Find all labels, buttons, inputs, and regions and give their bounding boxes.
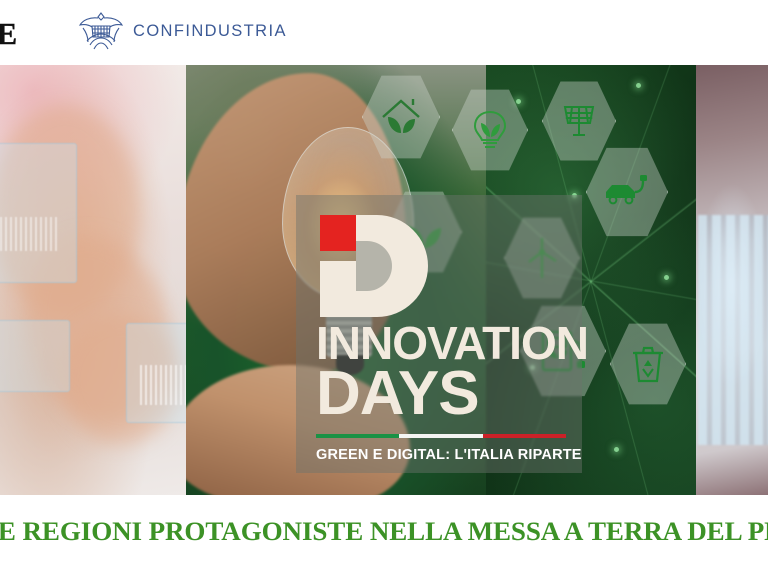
innovation-days-logo[interactable]: INNOVATION DAYS GREEN E DIGITAL: L'ITALI… [296, 195, 582, 473]
banner-photo-left [0, 65, 186, 495]
network-node [516, 99, 521, 104]
city-glow [696, 185, 768, 385]
logo-title-line2: DAYS [316, 365, 562, 424]
logo-i-stem [320, 261, 356, 317]
event-banner[interactable]: INNOVATION DAYS GREEN E DIGITAL: L'ITALI… [0, 65, 768, 495]
hud-bar-graph [140, 365, 186, 405]
innovation-days-id-mark [320, 213, 430, 317]
partner-logo[interactable]: CONFINDUSTRIA [78, 10, 287, 52]
article-headline[interactable]: LE REGIONI PROTAGONISTE NELLA MESSA A TE… [0, 517, 768, 546]
publisher-logo[interactable]: ORE [0, 18, 18, 49]
flag-red-stripe [483, 434, 566, 438]
logo-d-letter [356, 215, 428, 317]
network-node [636, 83, 641, 88]
partner-name-label: CONFINDUSTRIA [133, 22, 287, 41]
network-node [664, 275, 669, 280]
logo-red-square [320, 215, 356, 251]
network-node [614, 447, 619, 452]
italian-tricolour-bar [316, 434, 566, 438]
hud-overlay-panel [0, 320, 70, 392]
hud-overlay-panel [0, 143, 77, 283]
banner-photo-right [696, 65, 768, 495]
hud-bar-graph [0, 217, 60, 251]
flag-green-stripe [316, 434, 399, 438]
flag-white-stripe [399, 434, 482, 438]
article-headline-area: LE REGIONI PROTAGONISTE NELLA MESSA A TE… [0, 495, 768, 576]
confindustria-eagle-icon [78, 10, 124, 52]
site-header: ORE CONFINDUSTRIA [0, 0, 768, 65]
logo-tagline: GREEN E DIGITAL: L'ITALIA RIPARTE [316, 447, 562, 463]
